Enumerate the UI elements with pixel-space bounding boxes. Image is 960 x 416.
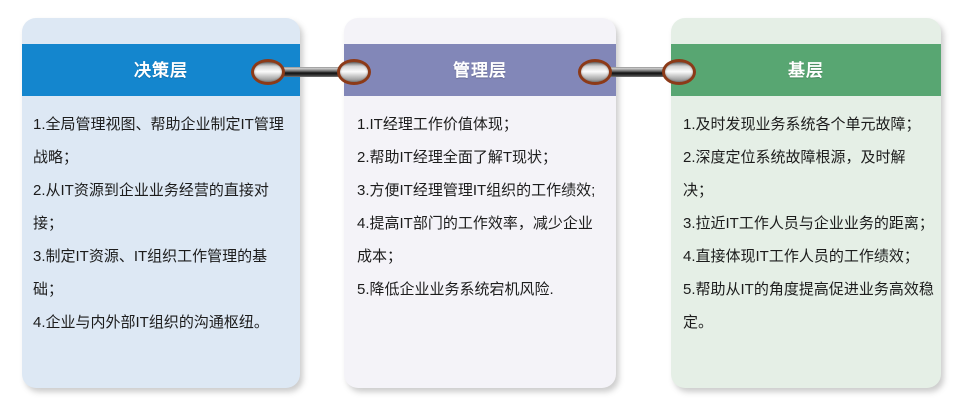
chain-ring-right-icon [662, 59, 696, 85]
panel-body-base-layer: 1.及时发现业务系统各个单元故障； 2.深度定位系统故障根源，及时解决； 3.拉… [671, 96, 941, 388]
panel-title-management-layer: 管理层 [453, 62, 507, 79]
connector-management-base [578, 59, 696, 85]
list-item: 5.帮助从IT的角度提高促进业务高效稳定。 [683, 273, 935, 339]
panel-base-layer[interactable]: 基层 1.及时发现业务系统各个单元故障； 2.深度定位系统故障根源，及时解决； … [671, 18, 941, 388]
list-item: 1.及时发现业务系统各个单元故障； [683, 108, 935, 141]
list-item: 4.企业与内外部IT组织的沟通枢纽。 [33, 306, 290, 339]
panel-header-management-layer: 管理层 [344, 44, 616, 96]
panel-header-base-layer: 基层 [671, 44, 941, 96]
panel-title-base-layer: 基层 [788, 62, 824, 79]
list-item: 3.拉近IT工作人员与企业业务的距离； [683, 207, 935, 240]
list-item: 2.从IT资源到企业业务经营的直接对接； [33, 174, 290, 240]
list-item: 1.IT经理工作价值体现； [357, 108, 606, 141]
chain-ring-left-icon [578, 59, 612, 85]
connector-decision-management [251, 59, 371, 85]
panel-body-decision-layer: 1.全局管理视图、帮助企业制定IT管理战略； 2.从IT资源到企业业务经营的直接… [22, 96, 300, 388]
list-item: 4.直接体现IT工作人员的工作绩效； [683, 240, 935, 273]
list-item: 1.全局管理视图、帮助企业制定IT管理战略； [33, 108, 290, 174]
list-item: 3.制定IT资源、IT组织工作管理的基础； [33, 240, 290, 306]
list-item: 2.深度定位系统故障根源，及时解决； [683, 141, 935, 207]
diagram-canvas: 决策层 1.全局管理视图、帮助企业制定IT管理战略； 2.从IT资源到企业业务经… [0, 0, 960, 416]
list-item: 4.提高IT部门的工作效率，减少企业成本； [357, 207, 606, 273]
chain-ring-left-icon [251, 59, 285, 85]
list-item: 5.降低企业业务系统宕机风险. [357, 273, 606, 306]
panel-management-layer[interactable]: 管理层 1.IT经理工作价值体现； 2.帮助IT经理全面了解T现状； 3.方便I… [344, 18, 616, 388]
panel-title-decision-layer: 决策层 [134, 62, 188, 79]
list-item: 2.帮助IT经理全面了解T现状； [357, 141, 606, 174]
list-item: 3.方便IT经理管理IT组织的工作绩效; [357, 174, 606, 207]
panel-body-management-layer: 1.IT经理工作价值体现； 2.帮助IT经理全面了解T现状； 3.方便IT经理管… [344, 96, 616, 388]
chain-ring-right-icon [337, 59, 371, 85]
